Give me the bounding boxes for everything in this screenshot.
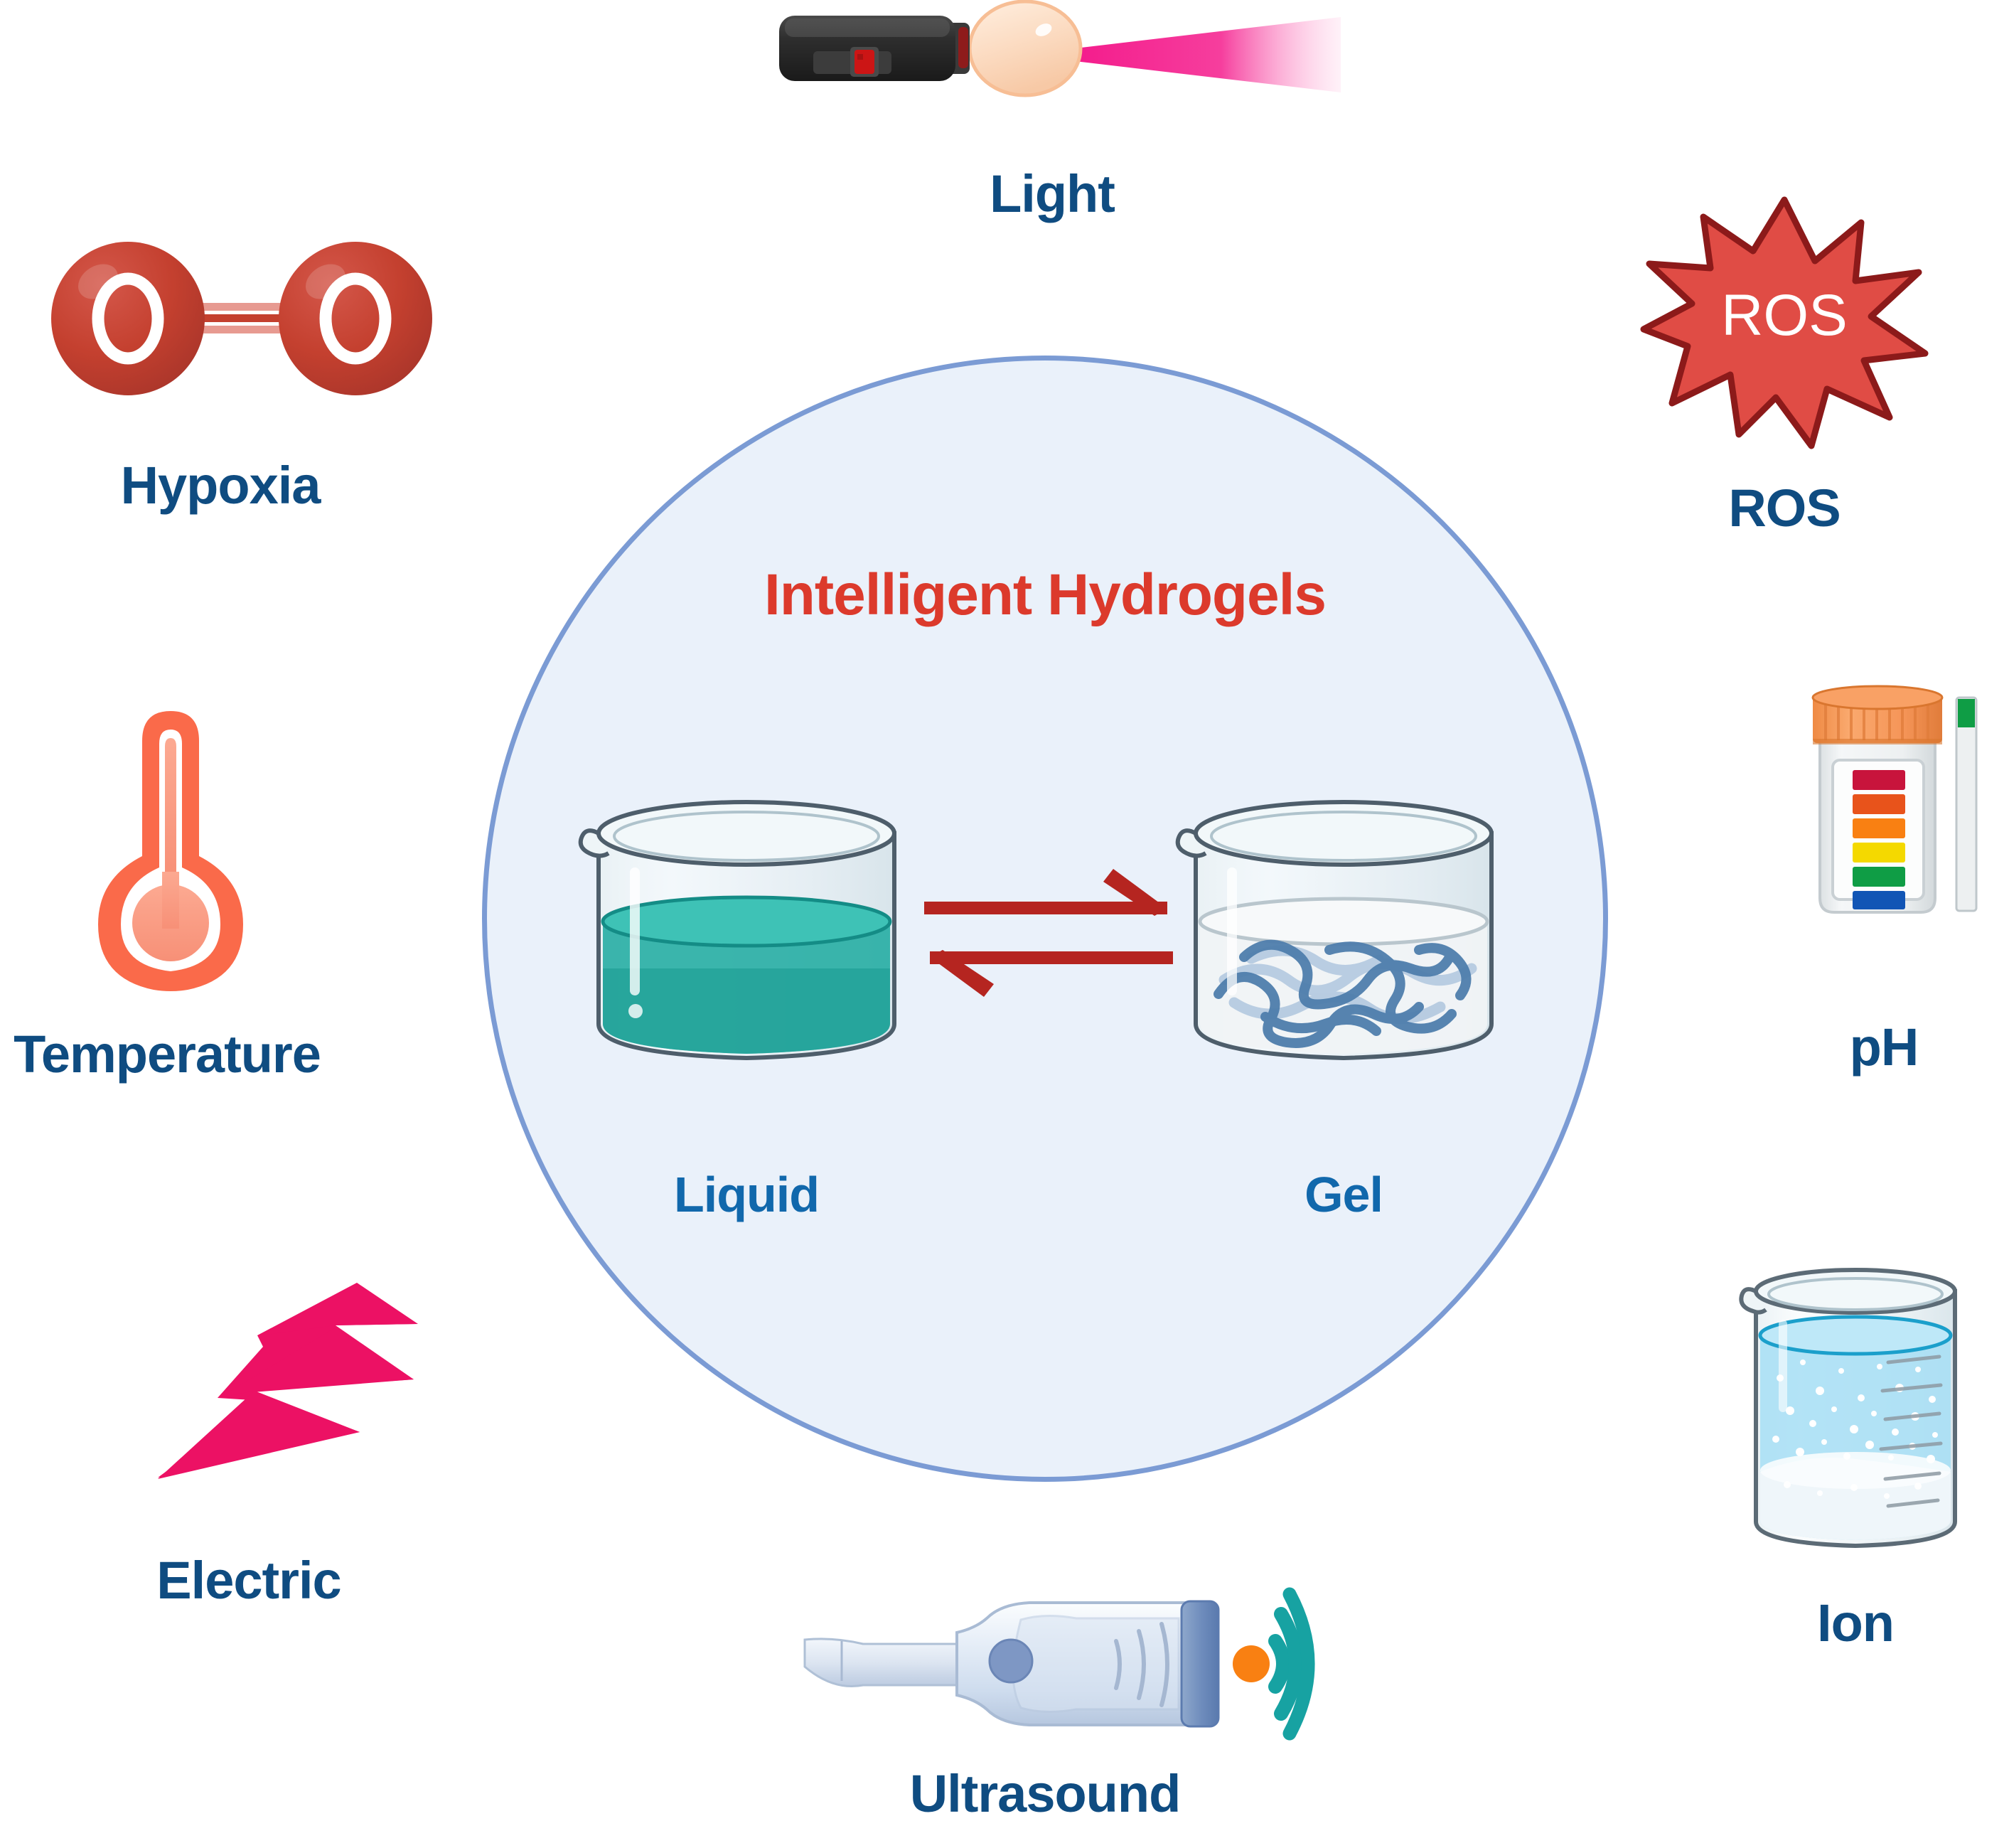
flashlight-icon xyxy=(754,7,1344,149)
diagram-canvas: Intelligent Hydrogels xyxy=(0,0,2009,1848)
page-title: Intelligent Hydrogels xyxy=(482,562,1608,629)
equilibrium-arrows-icon xyxy=(917,865,1180,1014)
stimulus-label-electric: Electric xyxy=(100,1550,398,1611)
ros-badge-text: ROS xyxy=(1721,283,1848,348)
beaker-gel-icon xyxy=(1166,789,1521,1116)
stimulus-label-hypoxia: Hypoxia xyxy=(43,455,398,516)
lightning-bolt-icon xyxy=(121,1273,419,1500)
ph-test-bottle-icon xyxy=(1791,686,1998,985)
state-label-gel: Gel xyxy=(1166,1166,1521,1223)
ros-burst-icon: ROS xyxy=(1642,196,1927,452)
stimulus-label-ros: ROS xyxy=(1600,478,1969,538)
beaker-ion-icon xyxy=(1735,1259,1976,1564)
thermometer-icon xyxy=(71,704,270,1003)
stimulus-label-light: Light xyxy=(853,164,1251,224)
state-label-liquid: Liquid xyxy=(569,1166,924,1223)
stimulus-label-ultrasound: Ultrasound xyxy=(796,1763,1294,1824)
oxygen-molecule-icon: O O xyxy=(43,242,441,405)
stimulus-label-ion: Ion xyxy=(1735,1593,1976,1653)
stimulus-label-ph: pH xyxy=(1763,1017,2005,1077)
ultrasound-probe-icon xyxy=(789,1600,1301,1770)
stimulus-label-temperature: Temperature xyxy=(0,1024,334,1084)
beaker-liquid-icon xyxy=(569,789,924,1116)
